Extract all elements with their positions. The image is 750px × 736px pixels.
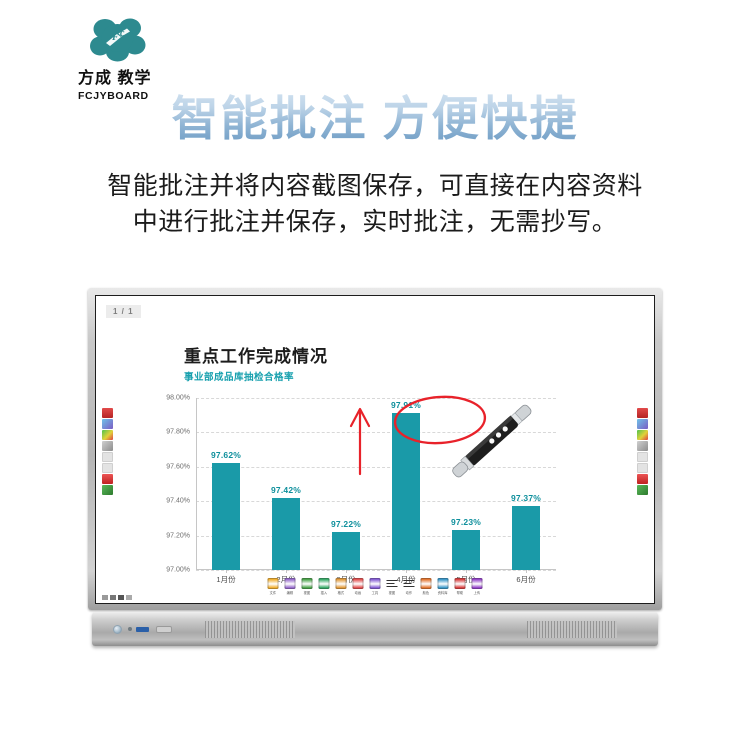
library-button-icon — [438, 578, 449, 589]
x-tick — [526, 570, 527, 573]
exit-button[interactable]: 上传 — [471, 578, 484, 595]
save-button-icon — [319, 578, 330, 589]
open-button-icon — [336, 578, 347, 589]
sidebar-item-color-palette-tool[interactable] — [102, 430, 113, 440]
y-tick-label: 98.00% — [166, 395, 190, 402]
stylus-pen — [441, 396, 539, 488]
bar-slot: 97.62% — [196, 398, 256, 570]
status-icon-4 — [126, 595, 132, 600]
brand-name-cn: 方成 教学 — [78, 64, 208, 88]
right-side-toolbar[interactable] — [637, 408, 648, 495]
power-button-icon[interactable] — [113, 625, 122, 634]
sidebar-item-eraser-tool-right[interactable] — [637, 441, 648, 451]
display-bezel: 1 / 1 — [88, 288, 662, 610]
screen-status-icons — [102, 595, 132, 600]
sidebar-item-delete-tool[interactable] — [102, 474, 113, 484]
help-button-icon — [455, 578, 466, 589]
export-button[interactable]: 动画 — [352, 578, 365, 595]
toolbar-item-label: 视图 — [389, 590, 395, 595]
y-tick-label: 97.60% — [166, 463, 190, 470]
align-left-button[interactable]: 视图 — [386, 578, 399, 595]
status-led-icon — [128, 627, 132, 631]
toolbar-item-label: 动画 — [355, 590, 361, 595]
left-side-toolbar[interactable] — [102, 408, 113, 495]
sidebar-item-delete-tool-right[interactable] — [637, 474, 648, 484]
interactive-whiteboard: 1 / 1 — [88, 288, 662, 648]
x-tick — [406, 570, 407, 573]
export-button-icon — [353, 578, 364, 589]
sidebar-item-highlighter-tool[interactable] — [102, 419, 113, 429]
bar-value-label: 97.22% — [331, 519, 361, 529]
y-tick-label: 97.20% — [166, 532, 190, 539]
chart-title: 重点工作完成情况 — [184, 342, 328, 367]
bar — [332, 532, 360, 570]
page-indicator: 1 / 1 — [106, 305, 141, 318]
toolbar-item-label: 文件 — [270, 590, 276, 595]
sidebar-item-pen-tool[interactable] — [102, 408, 113, 418]
x-tick — [226, 570, 227, 573]
bar — [272, 498, 300, 570]
y-tick-label: 97.80% — [166, 429, 190, 436]
bar — [212, 463, 240, 570]
status-icon-1 — [102, 595, 108, 600]
bar — [452, 530, 480, 570]
indicator-blue — [136, 627, 149, 632]
description-line-1: 智能批注并将内容截图保存，可直接在内容资料 — [40, 168, 710, 204]
bar-value-label: 97.37% — [511, 493, 541, 503]
sidebar-item-capture-tool[interactable] — [102, 485, 113, 495]
sidebar-item-undo-tool[interactable] — [102, 452, 113, 462]
help-button[interactable]: 帮助 — [454, 578, 467, 595]
y-tick-label: 97.40% — [166, 498, 190, 505]
palette-button[interactable]: 颜色 — [420, 578, 433, 595]
share-button-icon — [370, 578, 381, 589]
toolbar-item-label: 视图 — [304, 590, 310, 595]
display-base-bar — [92, 612, 658, 646]
sidebar-item-capture-tool-right[interactable] — [637, 485, 648, 495]
brand-logo: F c 方成 教学 FCJYBOARD — [78, 16, 208, 88]
status-icon-2 — [110, 595, 116, 600]
sidebar-item-eraser-tool[interactable] — [102, 441, 113, 451]
edit-button[interactable]: 编辑 — [284, 578, 297, 595]
new-file-button[interactable]: 文件 — [267, 578, 280, 595]
y-tick-label: 97.00% — [166, 567, 190, 574]
sidebar-item-color-palette-tool-right[interactable] — [637, 430, 648, 440]
description-line-2: 中进行批注并保存，实时批注，无需抄写。 — [40, 204, 710, 240]
toolbar-item-label: 工具 — [372, 590, 378, 595]
bar-value-label: 97.23% — [451, 517, 481, 527]
lines-icon — [404, 578, 415, 589]
x-tick — [466, 570, 467, 573]
chart-subtitle: 事业部成品库抽检合格率 — [184, 369, 294, 383]
flower-book-logo-icon: F c — [90, 16, 146, 62]
palette-button-icon — [421, 578, 432, 589]
y-axis-labels: 98.00%97.80%97.60%97.40%97.20%97.00% — [152, 398, 194, 570]
sidebar-item-redo-tool-right[interactable] — [637, 463, 648, 473]
toolbar-item-label: 帮助 — [457, 590, 463, 595]
edit-button-icon — [285, 578, 296, 589]
status-icon-3 — [118, 595, 124, 600]
indicator-gray — [156, 626, 172, 633]
sidebar-item-pen-tool-right[interactable] — [637, 408, 648, 418]
bar-value-label: 97.62% — [211, 450, 241, 460]
toolbar-item-label: 动作 — [406, 590, 412, 595]
x-tick-label: 1月份 — [196, 574, 256, 585]
library-button[interactable]: 资料库 — [437, 578, 450, 595]
speaker-grille-left-icon — [205, 621, 295, 638]
open-button[interactable]: 格式 — [335, 578, 348, 595]
bottom-toolbar[interactable]: 文件编辑视图插入格式动画工具视图动作颜色资料库帮助上传 — [267, 578, 484, 595]
page-description: 智能批注并将内容截图保存，可直接在内容资料 中进行批注并保存，实时批注，无需抄写… — [40, 168, 710, 241]
sidebar-item-redo-tool[interactable] — [102, 463, 113, 473]
bar-slot: 97.42% — [256, 398, 316, 570]
exit-button-icon — [472, 578, 483, 589]
toolbar-item-label: 编辑 — [287, 590, 293, 595]
red-up-arrow-annotation — [348, 404, 372, 476]
page-title: 智能批注 方便快捷 — [0, 92, 750, 146]
share-button[interactable]: 工具 — [369, 578, 382, 595]
display-screen[interactable]: 1 / 1 — [95, 295, 655, 604]
toolbar-item-label: 格式 — [338, 590, 344, 595]
x-tick — [346, 570, 347, 573]
insert-button-icon — [302, 578, 313, 589]
lines-icon — [387, 578, 398, 589]
toolbar-item-label: 插入 — [321, 590, 327, 595]
insert-button[interactable]: 视图 — [301, 578, 314, 595]
speaker-grille-right-icon — [527, 621, 617, 638]
toolbar-item-label: 上传 — [474, 590, 480, 595]
sidebar-item-highlighter-tool-right[interactable] — [637, 419, 648, 429]
new-file-button-icon — [268, 578, 279, 589]
x-tick-label: 6月份 — [496, 574, 556, 585]
bar-value-label: 97.42% — [271, 485, 301, 495]
bar — [512, 506, 540, 570]
svg-text:c: c — [120, 28, 125, 39]
grid-line — [196, 570, 556, 571]
sidebar-item-undo-tool-right[interactable] — [637, 452, 648, 462]
svg-text:F: F — [111, 32, 119, 43]
align-spacing-button[interactable]: 动作 — [403, 578, 416, 595]
toolbar-item-label: 颜色 — [423, 590, 429, 595]
save-button[interactable]: 插入 — [318, 578, 331, 595]
toolbar-item-label: 资料库 — [438, 590, 448, 595]
x-tick — [286, 570, 287, 573]
promo-page: F c 方成 教学 FCJYBOARD 智能批注 方便快捷 智能批注并将内容截图… — [0, 0, 750, 736]
